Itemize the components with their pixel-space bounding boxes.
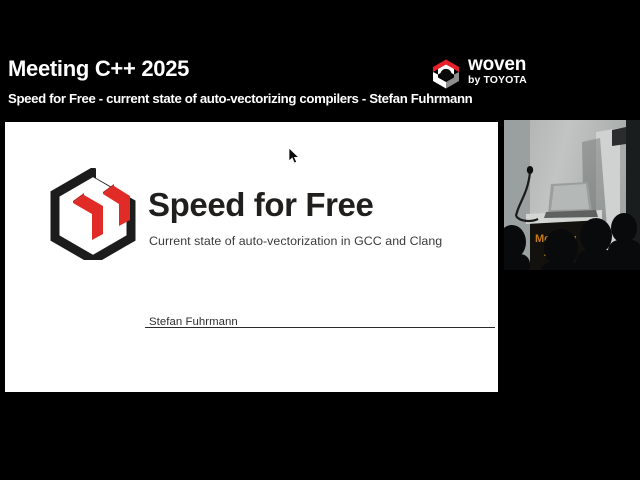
sponsor-logo: woven by TOYOTA (430, 56, 548, 92)
meeting-cpp-hexagon-logo (48, 168, 138, 260)
mouse-pointer (288, 148, 300, 165)
woven-word: woven (468, 55, 526, 74)
event-title: Meeting C++ 2025 (8, 56, 189, 82)
woven-wordmark: woven by TOYOTA (468, 56, 548, 92)
presentation-slide: Speed for Free Current state of auto-vec… (5, 122, 498, 392)
author-divider (145, 327, 495, 328)
conference-room-camera-feed: Meeting 20 (504, 120, 640, 280)
stream-header-band: Meeting C++ 2025 Speed for Free - curren… (0, 0, 640, 118)
woven-byline: by TOYOTA (468, 75, 527, 86)
woven-hexagon-icon (430, 58, 462, 90)
talk-subtitle: Speed for Free - current state of auto-v… (8, 91, 472, 106)
slide-title: Speed for Free (148, 186, 373, 224)
slide-subtitle: Current state of auto-vectorization in G… (149, 234, 442, 248)
video-frame: Meeting C++ 2025 Speed for Free - curren… (0, 0, 640, 480)
